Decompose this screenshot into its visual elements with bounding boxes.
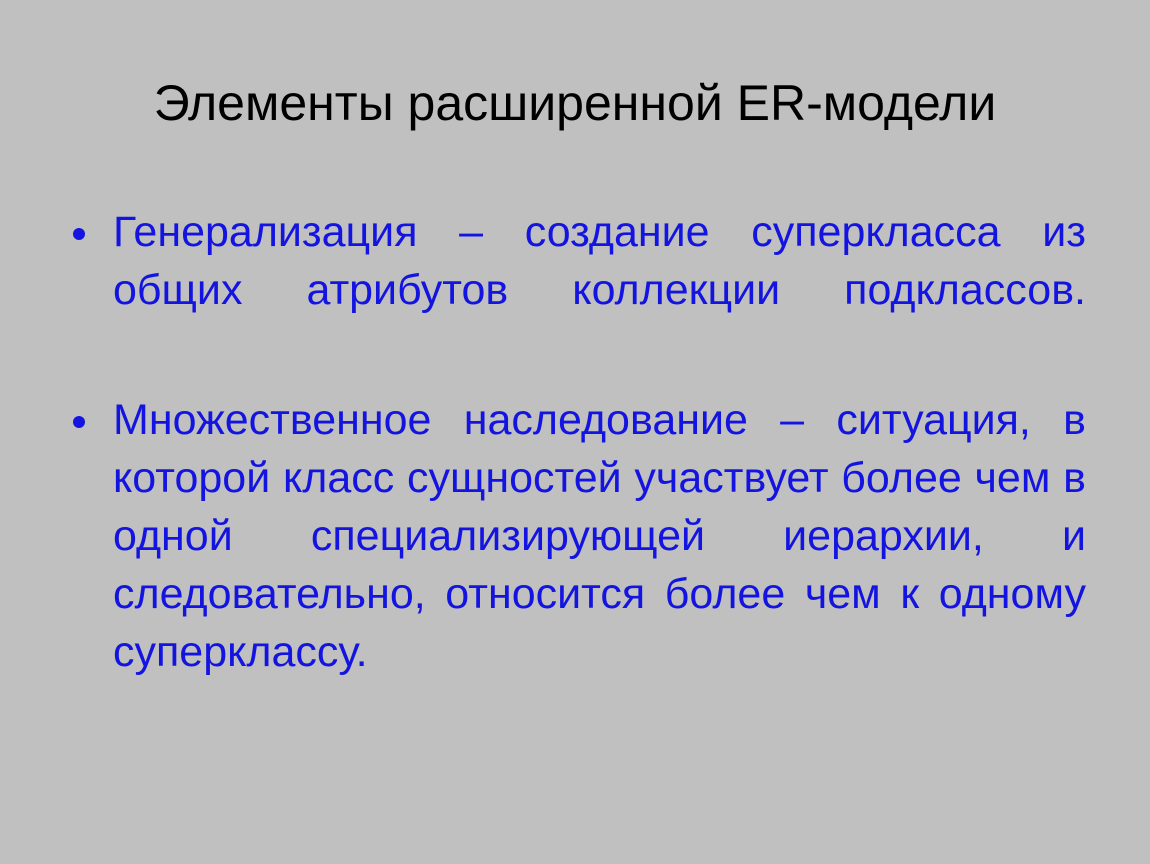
slide-body: Генерализация – создание суперкласса из …: [60, 203, 1086, 739]
bullet-dot-icon: [73, 228, 85, 240]
list-item: Множественное наследование – ситуация, в…: [60, 391, 1086, 739]
slide-title: Элементы расширенной ER-модели: [60, 74, 1090, 132]
list-item: Генерализация – создание суперкласса из …: [60, 203, 1086, 377]
bullet-dot-icon: [73, 416, 85, 428]
list-item-text: Множественное наследование – ситуация, в…: [113, 396, 1086, 676]
presentation-slide: Элементы расширенной ER-модели Генерализ…: [0, 0, 1150, 864]
list-item-text: Генерализация – создание суперкласса из …: [113, 208, 1086, 314]
